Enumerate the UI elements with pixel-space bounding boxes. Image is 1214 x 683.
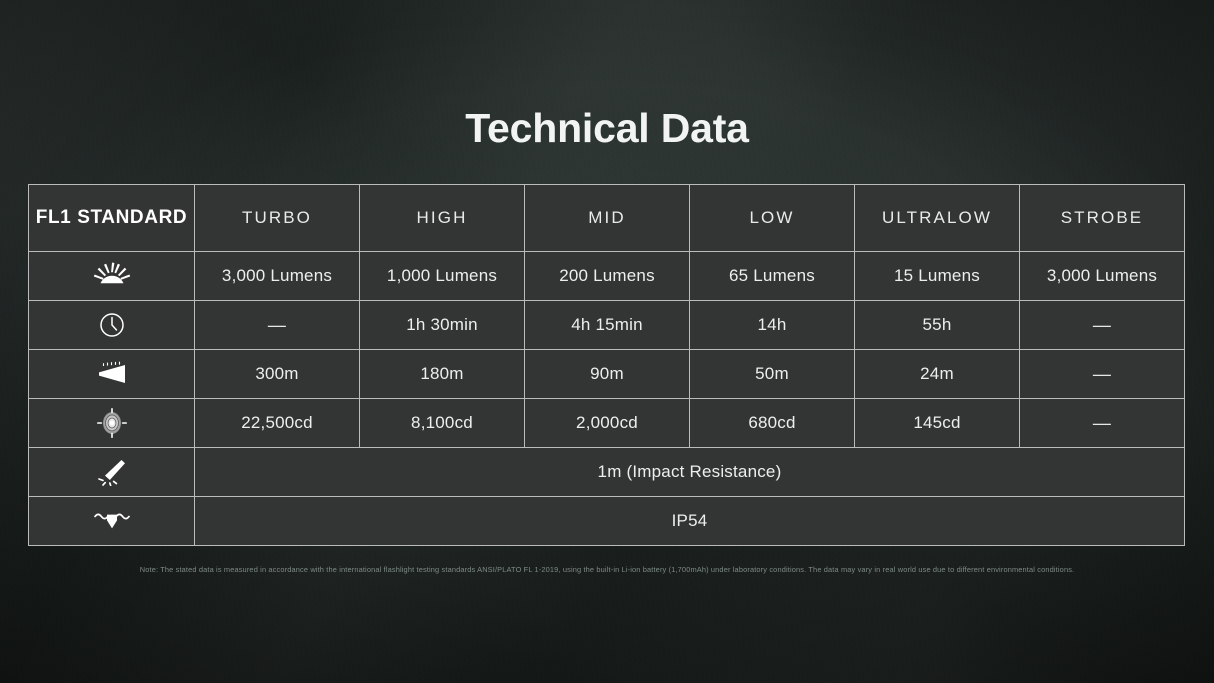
value-text: 3,000 Lumens: [1020, 266, 1184, 286]
cell-value: 14h: [690, 301, 855, 350]
luminous-flux-icon-cell: [29, 252, 195, 301]
cell-value: 300m: [195, 350, 360, 399]
mode-header-mid: MID: [525, 185, 690, 252]
impact-resistance-icon-cell: [29, 448, 195, 497]
cell-value: —: [1020, 301, 1185, 350]
cell-value: —: [195, 301, 360, 350]
beam-distance-icon-cell: [29, 350, 195, 399]
light-output-icon: [29, 252, 194, 300]
table-row-impact-resistance: 1m (Impact Resistance): [29, 448, 1185, 497]
table-row-water-resistance: IP54: [29, 497, 1185, 546]
cell-value: —: [1020, 399, 1185, 448]
value-text: 4h 15min: [525, 315, 689, 335]
value-text: 14h: [690, 315, 854, 335]
mode-header-high: HIGH: [360, 185, 525, 252]
water-resistance-icon: [29, 497, 194, 545]
cell-value: 55h: [855, 301, 1020, 350]
cell-value: 1,000 Lumens: [360, 252, 525, 301]
cell-value: 180m: [360, 350, 525, 399]
cell-value: 200 Lumens: [525, 252, 690, 301]
mode-label: MID: [525, 208, 689, 228]
water-resistance-icon-cell: [29, 497, 195, 546]
peak-beam-intensity-icon-cell: [29, 399, 195, 448]
impact-resistance-icon: [29, 448, 194, 496]
page-content: Technical Data FL1 STANDARD TURBO HIGH: [0, 0, 1214, 683]
table-header-row: FL1 STANDARD TURBO HIGH MID LOW ULTRALOW: [29, 185, 1185, 252]
value-text: 2,000cd: [525, 413, 689, 433]
runtime-icon-cell: [29, 301, 195, 350]
cell-value: 4h 15min: [525, 301, 690, 350]
mode-label: LOW: [690, 208, 854, 228]
impact-resistance-value-cell: 1m (Impact Resistance): [195, 448, 1185, 497]
fl1-standard-label: FL1 STANDARD: [29, 207, 194, 229]
water-resistance-value-cell: IP54: [195, 497, 1185, 546]
technical-data-table: FL1 STANDARD TURBO HIGH MID LOW ULTRALOW: [28, 184, 1185, 546]
cell-value: 680cd: [690, 399, 855, 448]
value-text: —: [1020, 364, 1184, 385]
value-text: 3,000 Lumens: [195, 266, 359, 286]
value-text: 1m (Impact Resistance): [195, 462, 1184, 482]
mode-label: ULTRALOW: [855, 208, 1019, 228]
cell-value: 50m: [690, 350, 855, 399]
beam-distance-icon: [29, 350, 194, 398]
cell-value: 24m: [855, 350, 1020, 399]
cell-value: 3,000 Lumens: [1020, 252, 1185, 301]
table-row-peak-beam-intensity: 22,500cd 8,100cd 2,000cd 680cd 145cd —: [29, 399, 1185, 448]
value-text: 65 Lumens: [690, 266, 854, 286]
cell-value: 8,100cd: [360, 399, 525, 448]
cell-value: —: [1020, 350, 1185, 399]
cell-value: 3,000 Lumens: [195, 252, 360, 301]
cell-value: 15 Lumens: [855, 252, 1020, 301]
value-text: 180m: [360, 364, 524, 384]
mode-label: TURBO: [195, 208, 359, 228]
fl1-standard-header-cell: FL1 STANDARD: [29, 185, 195, 252]
mode-header-turbo: TURBO: [195, 185, 360, 252]
value-text: 24m: [855, 364, 1019, 384]
mode-label: STROBE: [1020, 208, 1184, 228]
cell-value: 22,500cd: [195, 399, 360, 448]
value-text: IP54: [195, 511, 1184, 531]
value-text: 15 Lumens: [855, 266, 1019, 286]
mode-label: HIGH: [360, 208, 524, 228]
value-text: —: [1020, 413, 1184, 434]
value-text: 1h 30min: [360, 315, 524, 335]
value-text: 22,500cd: [195, 413, 359, 433]
table-row-luminous-flux: 3,000 Lumens 1,000 Lumens 200 Lumens 65 …: [29, 252, 1185, 301]
cell-value: 90m: [525, 350, 690, 399]
value-text: —: [1020, 315, 1184, 336]
value-text: 55h: [855, 315, 1019, 335]
value-text: 145cd: [855, 413, 1019, 433]
cell-value: 2,000cd: [525, 399, 690, 448]
footnote-text: Note: The stated data is measured in acc…: [0, 565, 1214, 574]
table-row-beam-distance: 300m 180m 90m 50m 24m —: [29, 350, 1185, 399]
value-text: 300m: [195, 364, 359, 384]
mode-header-ultralow: ULTRALOW: [855, 185, 1020, 252]
cell-value: 1h 30min: [360, 301, 525, 350]
value-text: 8,100cd: [360, 413, 524, 433]
table-row-runtime: — 1h 30min 4h 15min 14h 55h —: [29, 301, 1185, 350]
peak-beam-intensity-icon: [29, 399, 194, 447]
cell-value: 65 Lumens: [690, 252, 855, 301]
page-title: Technical Data: [0, 105, 1214, 152]
value-text: 680cd: [690, 413, 854, 433]
cell-value: 145cd: [855, 399, 1020, 448]
value-text: 90m: [525, 364, 689, 384]
value-text: 1,000 Lumens: [360, 266, 524, 286]
mode-header-low: LOW: [690, 185, 855, 252]
runtime-clock-icon: [29, 301, 194, 349]
mode-header-strobe: STROBE: [1020, 185, 1185, 252]
value-text: 200 Lumens: [525, 266, 689, 286]
value-text: —: [195, 315, 359, 336]
value-text: 50m: [690, 364, 854, 384]
